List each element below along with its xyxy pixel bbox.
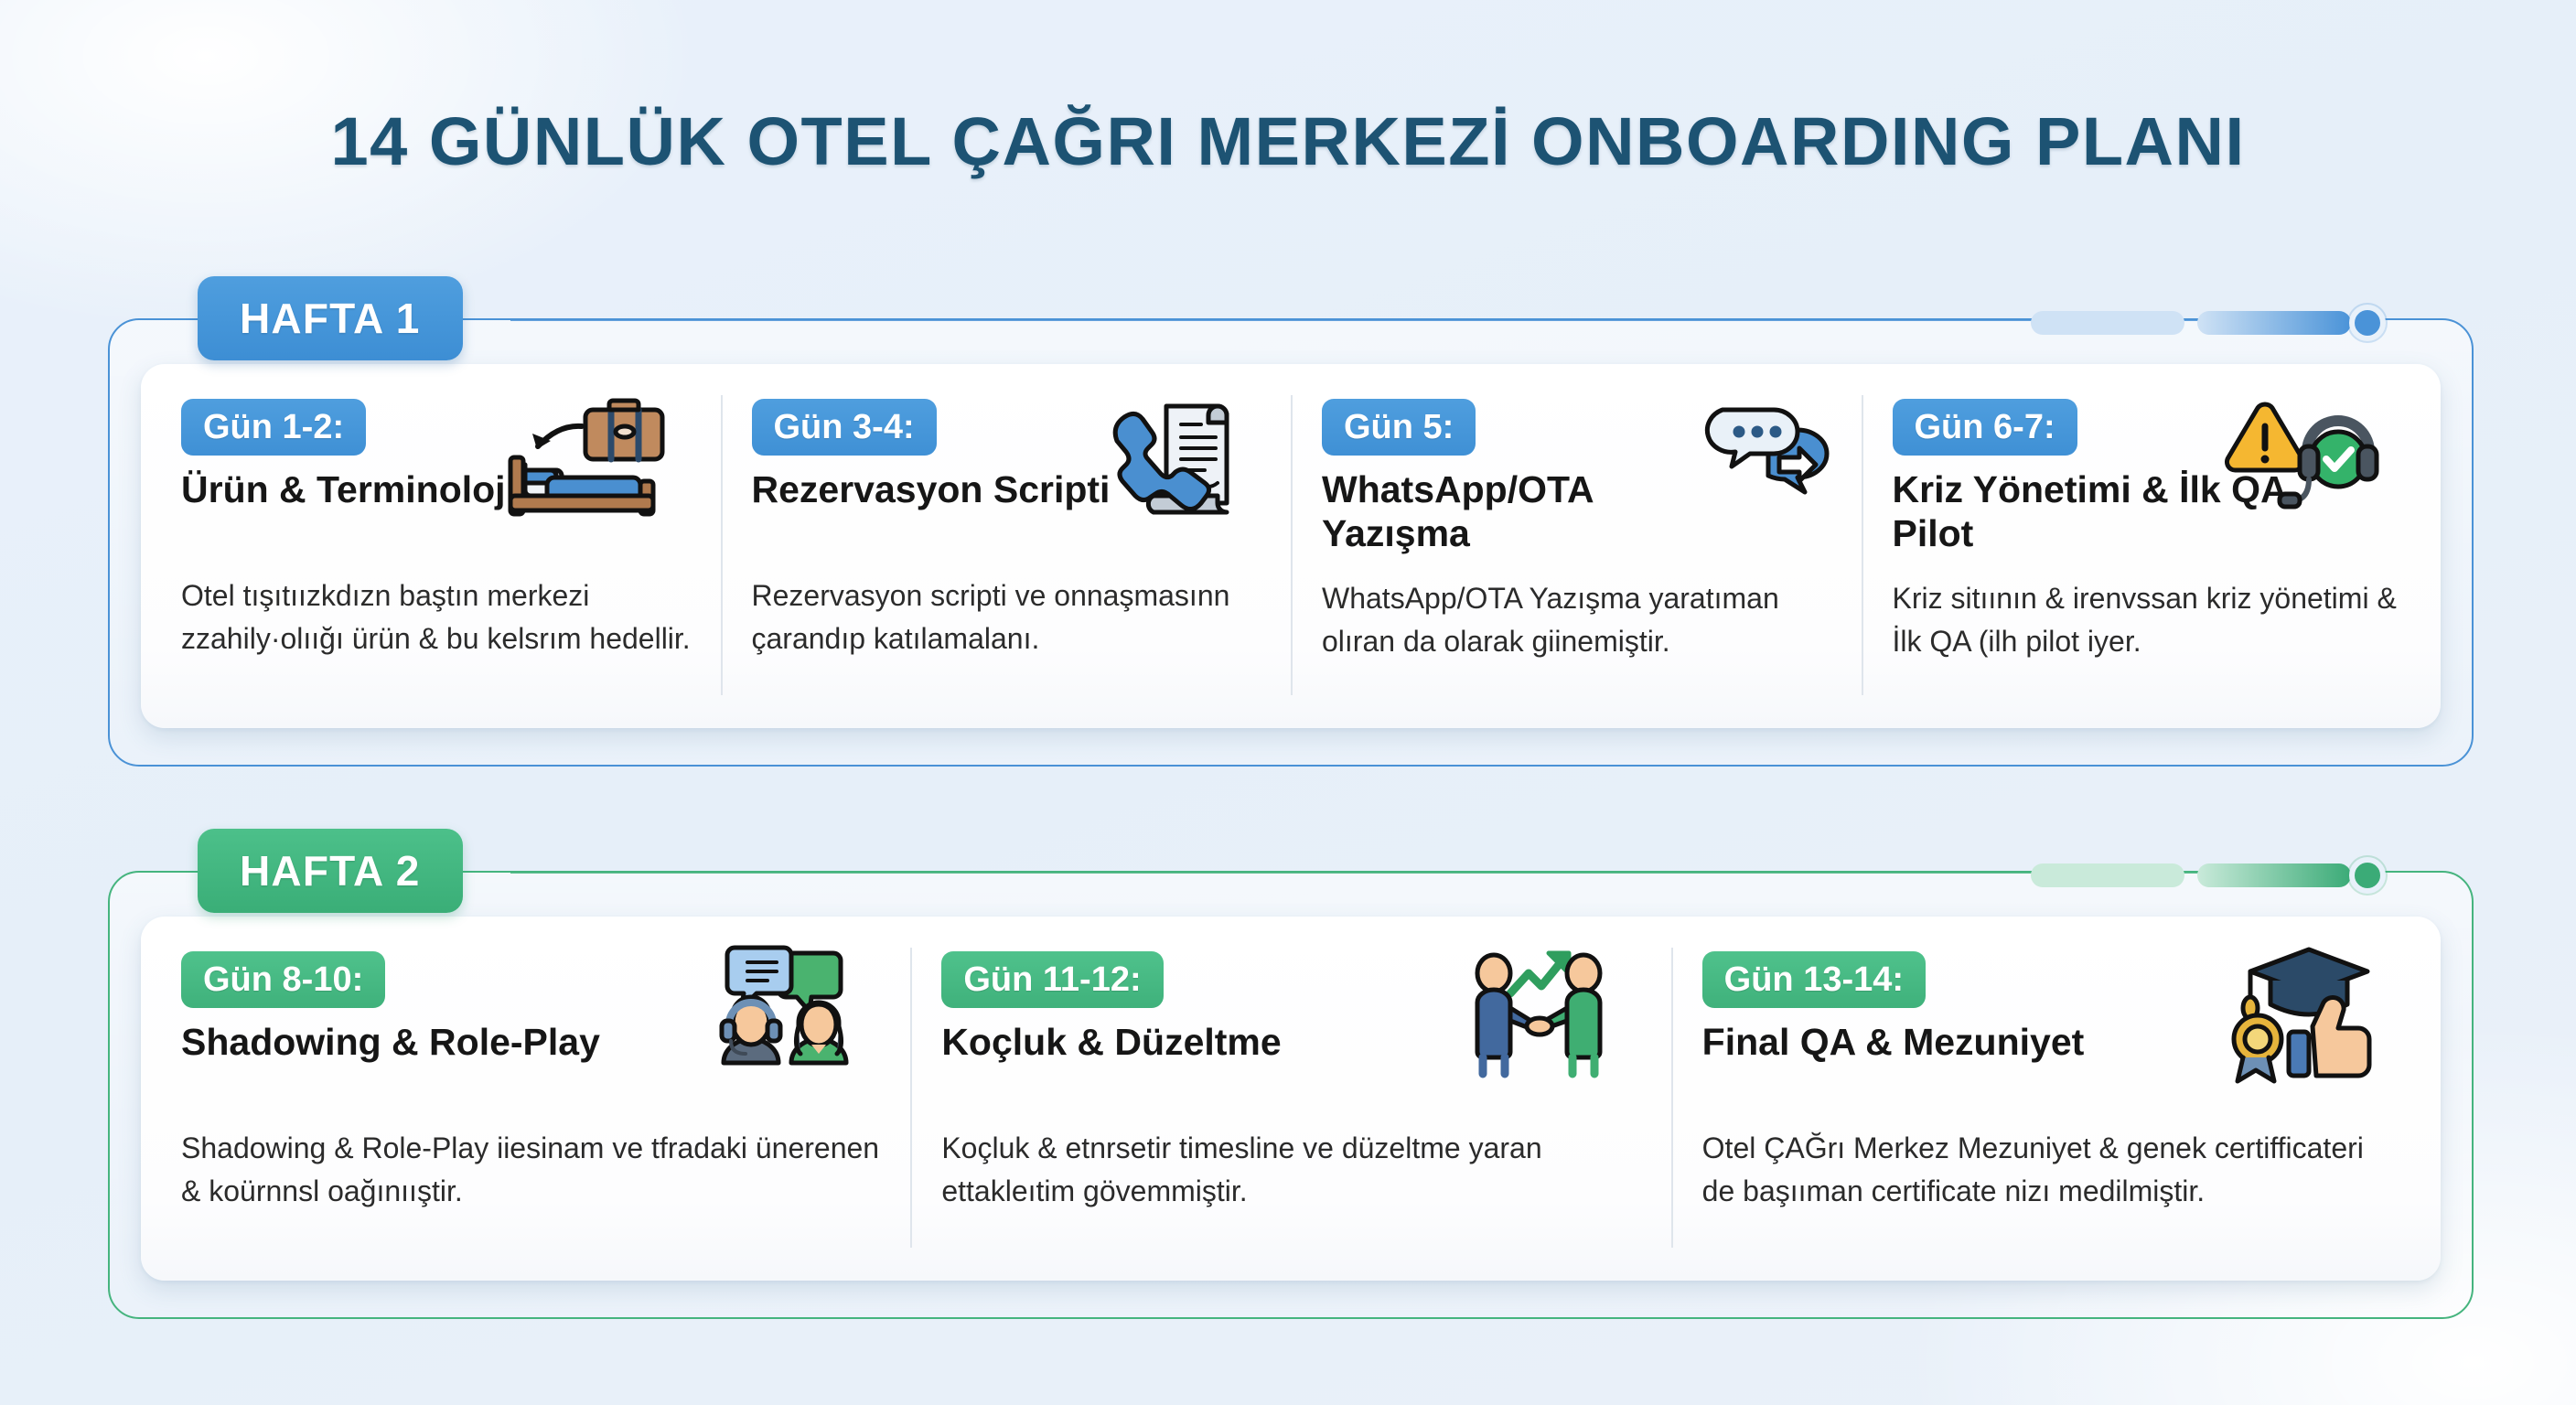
week-progress-1 — [2031, 305, 2386, 341]
week-1-card-panel: Gün 1-2: Ürün & Terminoloji — [141, 364, 2441, 728]
step-header: Gün 13-14: Final QA & Mezuniyet — [1702, 951, 2402, 1105]
week-section-2: HAFTA 2 Gün 8-10: Shadowing & Role-Play — [108, 871, 2474, 1319]
step-description: Shadowing & Role-Play iiesinam ve tfrada… — [181, 1127, 881, 1212]
step-description: Kriz sitıının & irenvssan kriz yönetimi … — [1893, 577, 2403, 662]
step-header: Gün 11-12: Koçluk & Düzeltme — [941, 951, 1641, 1105]
infographic-canvas: 14 GÜNLÜK OTEL ÇAĞRI MERKEZİ ONBOARDING … — [0, 0, 2576, 1405]
step-card-day-8-10: Gün 8-10: Shadowing & Role-Play — [150, 944, 910, 1257]
step-header: Gün 8-10: Shadowing & Role-Play — [181, 951, 881, 1105]
week-section-1: HAFTA 1 Gün 1-2: Ürün & Terminoloji — [108, 318, 2474, 767]
progress-segment-empty — [2031, 863, 2184, 887]
step-title: Shadowing & Role-Play — [181, 1021, 685, 1065]
progress-segment-empty — [2031, 311, 2184, 335]
day-badge: Gün 6-7: — [1893, 399, 2077, 456]
day-badge: Gün 1-2: — [181, 399, 366, 456]
handshake-growth-icon — [1444, 946, 1637, 1083]
step-header: Gün 6-7: Kriz Yönetimi & İlk QA Pilot — [1893, 399, 2403, 555]
day-badge: Gün 3-4: — [752, 399, 937, 456]
step-card-day-3-4: Gün 3-4: Rezervasyon Scripti — [721, 391, 1292, 704]
week-badge-2: HAFTA 2 — [198, 829, 463, 913]
progress-segment-filled — [2197, 311, 2351, 335]
step-card-day-1-2: Gün 1-2: Ürün & Terminoloji — [150, 391, 721, 704]
step-title: WhatsApp/OTA Yazışma — [1322, 468, 1720, 555]
week-badge-1: HAFTA 1 — [198, 276, 463, 360]
step-header: Gün 3-4: Rezervasyon Scripti — [752, 399, 1262, 552]
day-badge: Gün 5: — [1322, 399, 1476, 456]
page-title: 14 GÜNLÜK OTEL ÇAĞRI MERKEZİ ONBOARDING … — [0, 102, 2576, 180]
progress-end-dot — [2349, 857, 2386, 894]
step-description: Otel ÇAĞrı Merkez Mezuniyet & genek cert… — [1702, 1127, 2402, 1212]
step-title: Rezervasyon Scripti — [752, 468, 1150, 512]
step-description: Koçluk & etnrsetir timesline ve düzeltme… — [941, 1127, 1641, 1212]
step-header: Gün 5: WhatsApp/OTA Yazışma — [1322, 399, 1832, 555]
step-title: Final QA & Mezuniyet — [1702, 1021, 2206, 1065]
step-description: WhatsApp/OTA Yazışma yaratıman olıran da… — [1322, 577, 1832, 662]
week-progress-2 — [2031, 857, 2386, 894]
step-header: Gün 1-2: Ürün & Terminoloji — [181, 399, 692, 552]
step-card-day-5: Gün 5: WhatsApp/OTA Yazışma — [1291, 391, 1862, 704]
day-badge: Gün 8-10: — [181, 951, 385, 1008]
week-2-card-panel: Gün 8-10: Shadowing & Role-Play — [141, 917, 2441, 1281]
step-title: Ürün & Terminoloji — [181, 468, 579, 512]
step-title: Koçluk & Düzeltme — [941, 1021, 1445, 1065]
graduation-medal-thumbsup-icon — [2205, 946, 2397, 1083]
day-badge: Gün 11-12: — [941, 951, 1163, 1008]
step-description: Otel tışıtıızkdızn baştın merkezi zzahil… — [181, 574, 692, 660]
step-description: Rezervasyon scripti ve onnaşmasınn çaran… — [752, 574, 1262, 660]
step-card-day-6-7: Gün 6-7: Kriz Yönetimi & İlk QA Pilot — [1862, 391, 2432, 704]
agents-chat-icon — [683, 946, 875, 1083]
step-card-day-11-12: Gün 11-12: Koçluk & Düzeltme — [910, 944, 1670, 1257]
step-card-day-13-14: Gün 13-14: Final QA & Mezuniyet — [1671, 944, 2431, 1257]
progress-end-dot — [2349, 305, 2386, 341]
day-badge: Gün 13-14: — [1702, 951, 1926, 1008]
step-title: Kriz Yönetimi & İlk QA Pilot — [1893, 468, 2291, 555]
progress-segment-filled — [2197, 863, 2351, 887]
